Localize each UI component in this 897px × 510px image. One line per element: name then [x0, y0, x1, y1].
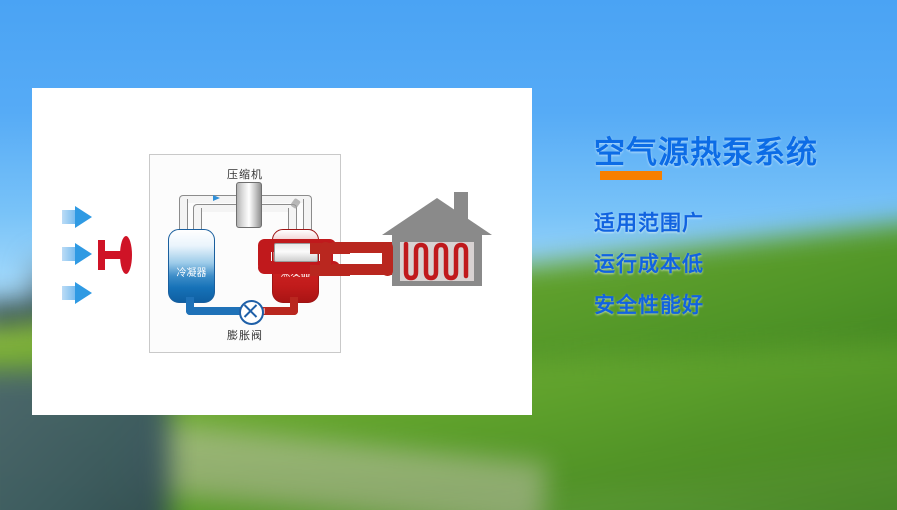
- roof: [382, 198, 492, 235]
- condenser-body: 冷凝器: [168, 229, 215, 303]
- airflow-arrow-1: [62, 206, 92, 228]
- arrow-head: [75, 282, 92, 304]
- expansion-valve-label: 膨胀阀: [150, 327, 340, 343]
- airflow-arrow-2: [62, 243, 92, 265]
- diagram-card: 压缩机 冷凝器: [32, 88, 532, 415]
- pipe-riser-unit: [320, 242, 331, 276]
- page-title: 空气源热泵系统: [594, 127, 818, 172]
- arrow-head: [75, 206, 92, 228]
- feature-item-3: 安全性能好: [594, 289, 704, 319]
- feature-item-1: 适用范围广: [594, 207, 704, 237]
- compressor-label: 压缩机: [150, 166, 340, 182]
- feature-item-2: 运行成本低: [594, 248, 704, 278]
- floor-heating-coil: [400, 242, 474, 281]
- slide-canvas: 压缩机 冷凝器: [0, 0, 897, 510]
- fan-unit-ellipse: [120, 236, 132, 274]
- pipe-discharge-top-left: [179, 195, 239, 203]
- pipe-riser-house: [382, 242, 393, 276]
- pipe-discharge-down-left: [179, 199, 188, 232]
- expansion-valve-icon: [239, 300, 264, 325]
- title-underline-bar: [600, 171, 662, 180]
- heated-room: [400, 242, 474, 281]
- condenser-label: 冷凝器: [169, 264, 214, 279]
- airflow-arrow-3: [62, 282, 92, 304]
- flow-arrow-top-left: [213, 195, 220, 201]
- arrow-head: [75, 243, 92, 265]
- compressor-body: [236, 182, 262, 228]
- pipe-down-right: [303, 199, 312, 230]
- refrigeration-cycle-box: 压缩机 冷凝器: [149, 154, 341, 353]
